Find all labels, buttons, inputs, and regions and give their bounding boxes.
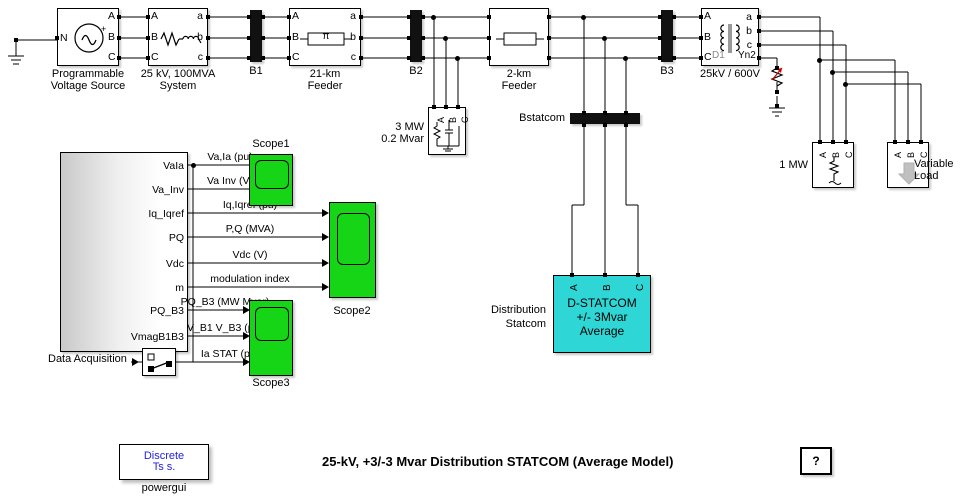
- arrowhead: [322, 259, 329, 267]
- scope3-screen: [255, 307, 289, 341]
- signal-wire-layer: [0, 0, 964, 504]
- scope2-label: Scope2: [322, 305, 382, 317]
- manual-switch-block[interactable]: [142, 348, 176, 376]
- arrowhead: [322, 283, 329, 291]
- arrowhead: [322, 233, 329, 241]
- powergui-line2: Ts s.: [119, 461, 209, 473]
- scope1-screen: [255, 160, 289, 189]
- powergui-label: powergui: [119, 482, 209, 494]
- arrowhead: [322, 209, 329, 217]
- signal-label-p-q: P,Q (MVA): [195, 223, 305, 235]
- scope1-label: Scope1: [241, 138, 301, 150]
- page-title: 25-kV, +3/-3 Mvar Distribution STATCOM (…: [322, 454, 673, 469]
- junction-dot: [191, 163, 196, 168]
- scope3-label: Scope3: [241, 377, 301, 389]
- scope2-screen: [337, 213, 370, 265]
- help-block[interactable]: ?: [800, 447, 832, 475]
- question-mark-glyph: ?: [802, 454, 830, 468]
- arrowhead: [132, 358, 139, 366]
- simulink-model-canvas: N A B C + Programmable Voltage Source A …: [0, 0, 964, 504]
- signal-label-modulation-index: modulation index: [190, 273, 310, 285]
- signal-label-vdc: Vdc (V): [195, 249, 305, 261]
